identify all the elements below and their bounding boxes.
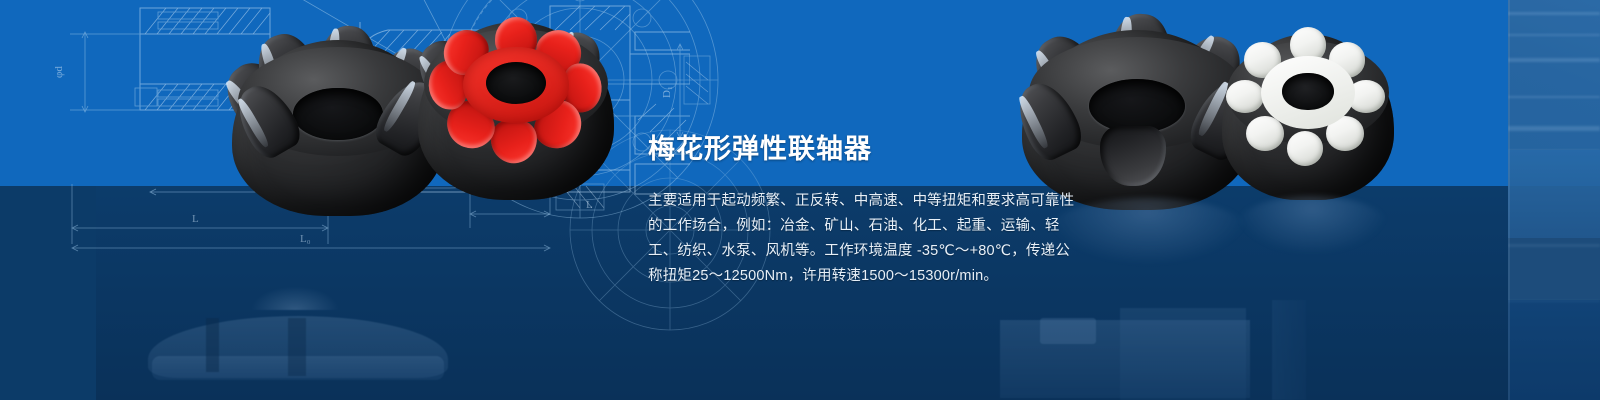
machine-photo-mid [1508, 150, 1600, 250]
jaw-coupling-red-spider [418, 22, 614, 200]
spider-lobe [491, 120, 537, 163]
machinery-silhouette-detail [288, 318, 306, 376]
banner-description: 主要适用于起动频繁、正反转、中高速、中等扭矩和要求高可靠性的工作场合，例如：冶金… [648, 189, 1078, 289]
banner-copy: 梅花形弹性联轴器 主要适用于起动频繁、正反转、中高速、中等扭矩和要求高可靠性的工… [648, 136, 1078, 289]
jaw-coupling-hub-black [232, 40, 444, 216]
description-text: 主要适用于起动频繁、正反转、中高速、中等扭矩和要求高可靠性的工作场合，例如：冶金… [648, 189, 1078, 289]
machinery-silhouette-column [1272, 300, 1306, 400]
coupling-bore [293, 88, 382, 141]
machinery-silhouette-detail [206, 318, 219, 372]
spider-lobe [1226, 80, 1264, 113]
svg-text:L₀: L₀ [300, 233, 311, 245]
elastomer-spider-red [428, 26, 604, 161]
product-banner: φd [0, 0, 1600, 400]
product-reflection [1048, 198, 1248, 264]
industrial-machine-photo [1508, 0, 1600, 400]
jaw-coupling-white-spider [1222, 34, 1394, 200]
page-title: 梅花形弹性联轴器 [648, 136, 1078, 163]
photo-edge-divider [1508, 0, 1510, 400]
svg-text:L: L [192, 213, 199, 225]
machinery-silhouette-block [1120, 308, 1246, 400]
machinery-silhouette-glow [250, 286, 340, 310]
product-photo-left-group [232, 14, 612, 214]
svg-text:φd: φd [53, 66, 65, 78]
spider-lobe [1287, 131, 1323, 166]
product-reflection [1236, 196, 1388, 254]
coupling-bore [486, 62, 546, 104]
coupling-bore [1282, 73, 1333, 111]
machine-photo-bottom [1508, 300, 1600, 400]
elastomer-spider-white [1232, 37, 1383, 163]
coupling-bore [1089, 79, 1186, 133]
